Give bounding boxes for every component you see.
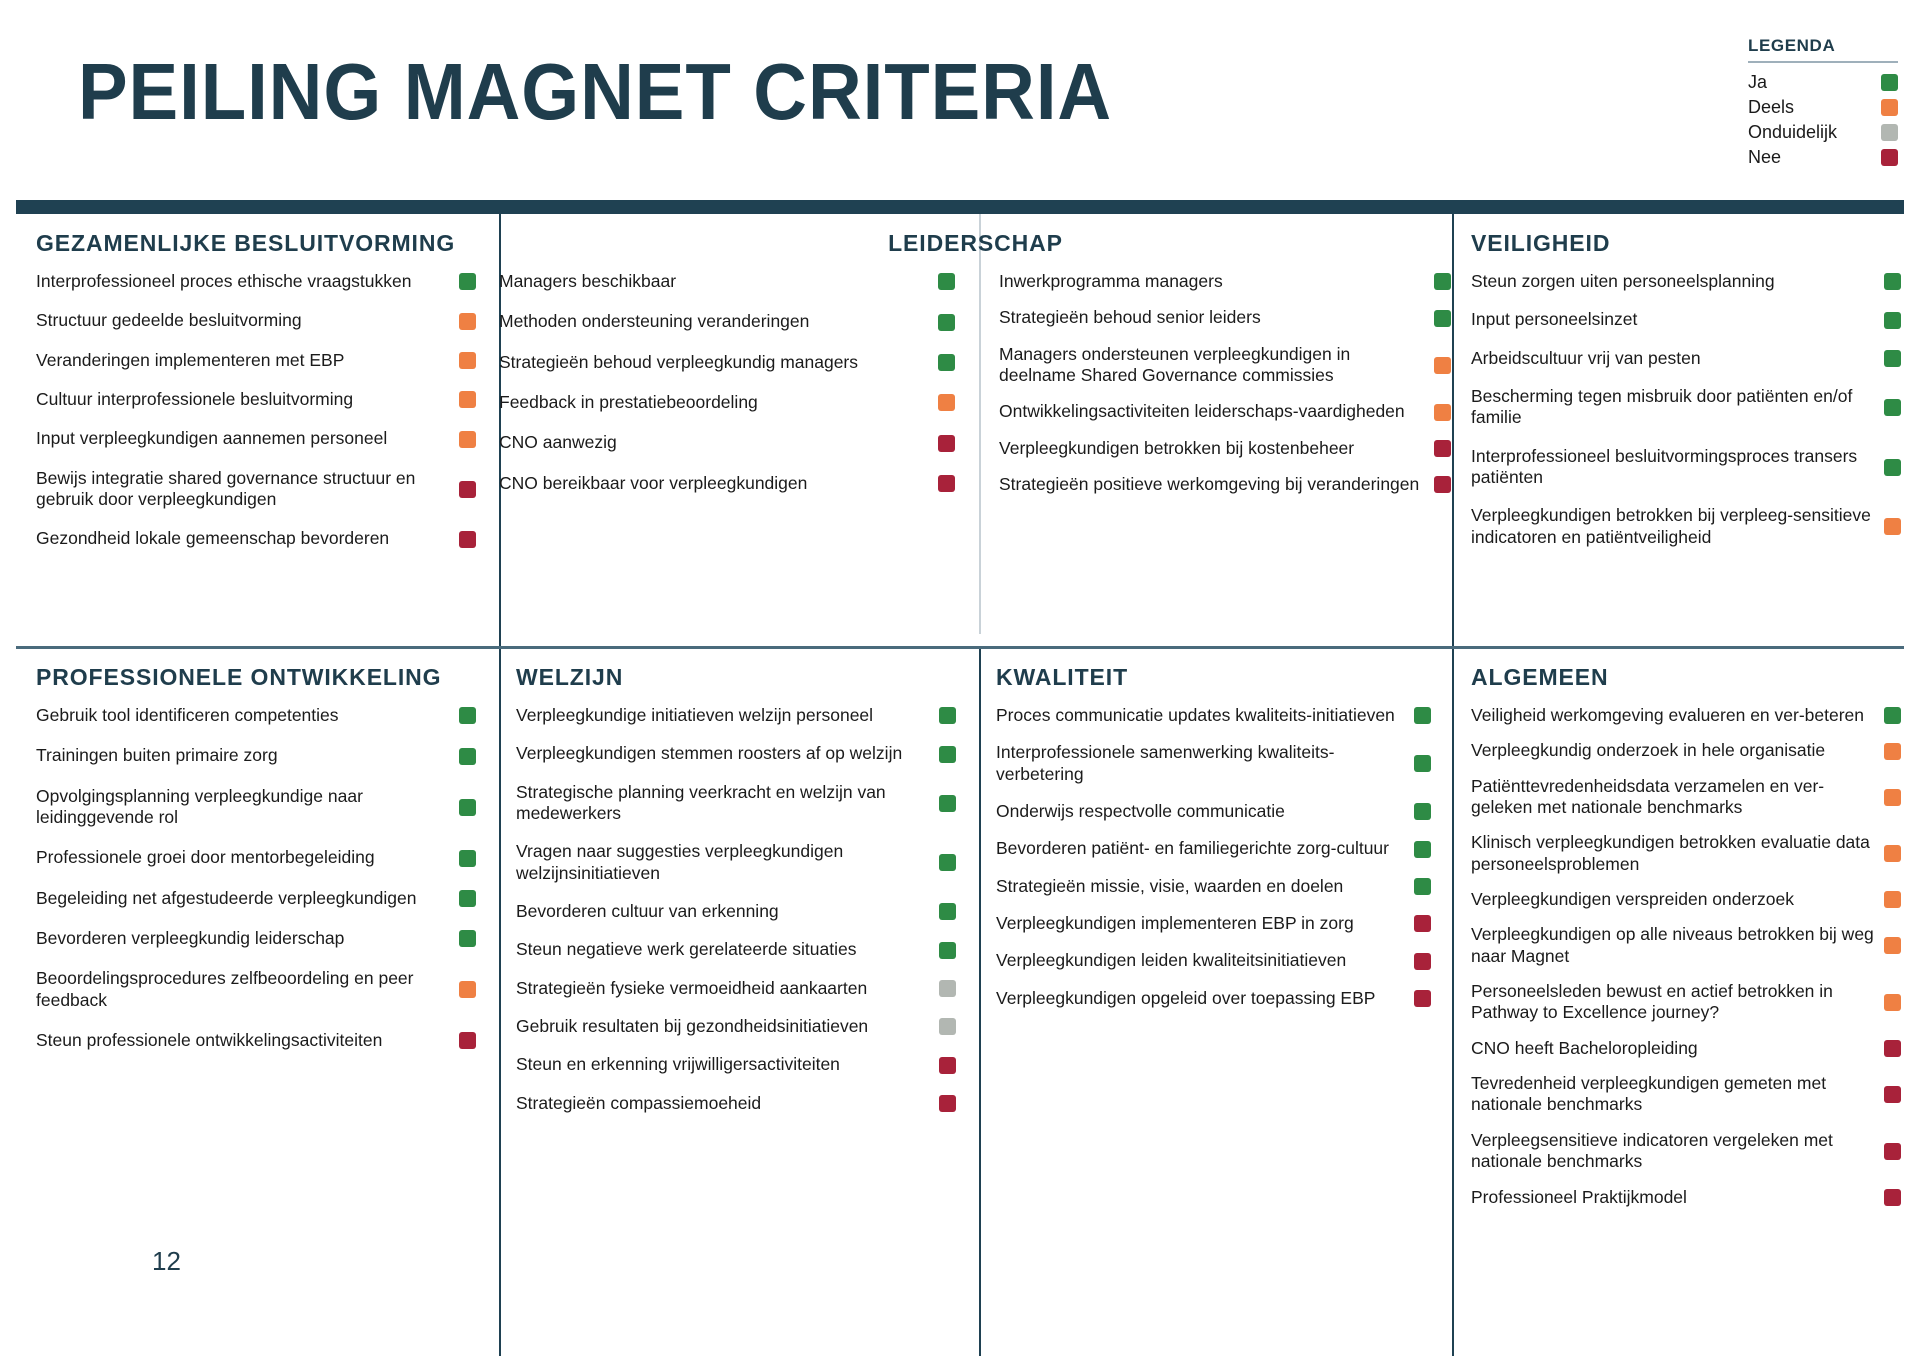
status-swatch-ja bbox=[1414, 878, 1431, 895]
criteria-label: Bevorderen patiënt- en familiegerichte z… bbox=[996, 838, 1389, 859]
panel-title-welzijn: WELZIJN bbox=[516, 664, 956, 691]
criteria-label: Strategieën fysieke vermoeidheid aankaar… bbox=[516, 978, 867, 999]
criteria-label: Interprofessioneel proces ethische vraag… bbox=[36, 271, 412, 292]
status-swatch-ja bbox=[459, 707, 476, 724]
status-swatch-ja bbox=[1884, 312, 1901, 329]
criteria-row: Begeleiding net afgestudeerde verpleegku… bbox=[36, 888, 476, 909]
legend-rows: JaDeelsOnduidelijkNee bbox=[1748, 70, 1898, 170]
status-swatch-ja bbox=[1884, 273, 1901, 290]
status-swatch-nee bbox=[1884, 1143, 1901, 1160]
criteria-row: Beoordelingsprocedures zelfbeoordeling e… bbox=[36, 968, 476, 1011]
criteria-label: Personeelsleden bewust en actief betrokk… bbox=[1471, 981, 1874, 1024]
criteria-label: Strategieën behoud verpleegkundig manage… bbox=[499, 352, 858, 373]
status-swatch-onduidelijk bbox=[939, 1018, 956, 1035]
column-divider-2-bottom bbox=[979, 646, 981, 1356]
criteria-label: Cultuur interprofessionele besluitvormin… bbox=[36, 389, 353, 410]
item-list-veiligheid: Steun zorgen uiten personeelsplanningInp… bbox=[1471, 271, 1901, 548]
criteria-row: Trainingen buiten primaire zorg bbox=[36, 745, 476, 766]
criteria-row: Managers beschikbaar bbox=[499, 271, 955, 292]
criteria-label: Veiligheid werkomgeving evalueren en ver… bbox=[1471, 705, 1864, 726]
criteria-label: Steun zorgen uiten personeelsplanning bbox=[1471, 271, 1775, 292]
panel-leiderschap: LEIDERSCHAP Managers beschikbaarMethoden… bbox=[499, 230, 1452, 495]
criteria-label: Steun professionele ontwikkelingsactivit… bbox=[36, 1030, 382, 1051]
panel-algemeen: ALGEMEEN Veiligheid werkomgeving evaluer… bbox=[1471, 664, 1901, 1208]
criteria-label: Input verpleegkundigen aannemen personee… bbox=[36, 428, 387, 449]
criteria-row: Interprofessioneel proces ethische vraag… bbox=[36, 271, 476, 292]
criteria-label: Strategieën missie, visie, waarden en do… bbox=[996, 876, 1343, 897]
status-swatch-ja bbox=[1434, 273, 1451, 290]
criteria-grid: GEZAMENLIJKE BESLUITVORMING Interprofess… bbox=[16, 214, 1904, 1356]
legend-divider bbox=[1748, 61, 1898, 63]
criteria-label: Verpleegsensitieve indicatoren vergeleke… bbox=[1471, 1130, 1874, 1173]
item-list-leiderschap-right: Inwerkprogramma managersStrategieën beho… bbox=[999, 271, 1451, 495]
panel-title-algemeen: ALGEMEEN bbox=[1471, 664, 1901, 691]
status-swatch-deels bbox=[459, 313, 476, 330]
status-swatch-ja bbox=[459, 850, 476, 867]
criteria-row: Personeelsleden bewust en actief betrokk… bbox=[1471, 981, 1901, 1024]
legend-item: Onduidelijk bbox=[1748, 120, 1898, 145]
status-swatch-ja bbox=[939, 707, 956, 724]
column-divider-3 bbox=[1452, 214, 1454, 1356]
criteria-row: Steun zorgen uiten personeelsplanning bbox=[1471, 271, 1901, 292]
criteria-row: Verpleegkundigen stemmen roosters af op … bbox=[516, 743, 956, 764]
criteria-row: Steun negatieve werk gerelateerde situat… bbox=[516, 939, 956, 960]
status-swatch-nee bbox=[459, 481, 476, 498]
status-swatch-deels bbox=[1434, 357, 1451, 374]
criteria-label: Verpleegkundigen verspreiden onderzoek bbox=[1471, 889, 1794, 910]
criteria-label: Trainingen buiten primaire zorg bbox=[36, 745, 278, 766]
criteria-row: Inwerkprogramma managers bbox=[999, 271, 1451, 292]
status-swatch-ja bbox=[1884, 399, 1901, 416]
status-swatch-ja bbox=[459, 799, 476, 816]
status-swatch-deels bbox=[459, 391, 476, 408]
criteria-row: Klinisch verpleegkundigen betrokken eval… bbox=[1471, 832, 1901, 875]
status-swatch-ja bbox=[1414, 841, 1431, 858]
criteria-row: Tevredenheid verpleegkundigen gemeten me… bbox=[1471, 1073, 1901, 1116]
criteria-row: Verpleegkundigen verspreiden onderzoek bbox=[1471, 889, 1901, 910]
legend-title: LEGENDA bbox=[1748, 36, 1898, 61]
status-swatch-ja bbox=[1414, 755, 1431, 772]
criteria-label: Verpleegkundig onderzoek in hele organis… bbox=[1471, 740, 1825, 761]
panel-title-professionele: PROFESSIONELE ONTWIKKELING bbox=[36, 664, 476, 691]
criteria-label: Interprofessioneel besluitvormingsproces… bbox=[1471, 446, 1874, 489]
criteria-row: Steun en erkenning vrijwilligersactivite… bbox=[516, 1054, 956, 1075]
criteria-label: Strategieën behoud senior leiders bbox=[999, 307, 1261, 328]
criteria-label: Verpleegkundigen implementeren EBP in zo… bbox=[996, 913, 1354, 934]
status-swatch-ja bbox=[938, 314, 955, 331]
criteria-label: Strategieën compassiemoeheid bbox=[516, 1093, 761, 1114]
status-swatch-deels bbox=[459, 431, 476, 448]
criteria-label: Feedback in prestatiebeoordeling bbox=[499, 392, 758, 413]
status-swatch-deels bbox=[1884, 845, 1901, 862]
status-swatch-ja bbox=[459, 748, 476, 765]
criteria-label: Tevredenheid verpleegkundigen gemeten me… bbox=[1471, 1073, 1874, 1116]
page-number: 12 bbox=[152, 1246, 181, 1277]
status-swatch-ja bbox=[939, 854, 956, 871]
criteria-row: Opvolgingsplanning verpleegkundige naar … bbox=[36, 786, 476, 829]
legend-color-swatch bbox=[1881, 149, 1898, 166]
criteria-row: Verpleegsensitieve indicatoren vergeleke… bbox=[1471, 1130, 1901, 1173]
criteria-label: Patiënttevredenheidsdata verzamelen en v… bbox=[1471, 776, 1874, 819]
criteria-row: Verpleegkundigen leiden kwaliteitsinitia… bbox=[996, 950, 1431, 971]
status-swatch-nee bbox=[939, 1095, 956, 1112]
criteria-row: Verpleegkundigen opgeleid over toepassin… bbox=[996, 988, 1431, 1009]
status-swatch-ja bbox=[459, 890, 476, 907]
legend-item: Nee bbox=[1748, 145, 1898, 170]
criteria-label: Professioneel Praktijkmodel bbox=[1471, 1187, 1687, 1208]
status-swatch-nee bbox=[459, 1032, 476, 1049]
status-swatch-nee bbox=[1414, 953, 1431, 970]
criteria-row: Managers ondersteunen verpleegkundigen i… bbox=[999, 344, 1451, 387]
criteria-row: Professioneel Praktijkmodel bbox=[1471, 1187, 1901, 1208]
criteria-row: Strategieën behoud senior leiders bbox=[999, 307, 1451, 328]
criteria-row: Verpleegkundigen implementeren EBP in zo… bbox=[996, 913, 1431, 934]
status-swatch-ja bbox=[939, 942, 956, 959]
criteria-row: Gebruik resultaten bij gezondheidsinitia… bbox=[516, 1016, 956, 1037]
legend-item-label: Ja bbox=[1748, 72, 1767, 93]
criteria-row: Strategieën behoud verpleegkundig manage… bbox=[499, 352, 955, 373]
criteria-row: Ontwikkelingsactiviteiten leiderschaps-v… bbox=[999, 401, 1451, 422]
status-swatch-ja bbox=[1884, 707, 1901, 724]
criteria-row: Strategieën positieve werkomgeving bij v… bbox=[999, 474, 1451, 495]
criteria-row: Vragen naar suggesties verpleegkundigen … bbox=[516, 841, 956, 884]
criteria-row: Bevorderen verpleegkundig leiderschap bbox=[36, 928, 476, 949]
criteria-row: Bevorderen cultuur van erkenning bbox=[516, 901, 956, 922]
criteria-label: Verpleegkundigen stemmen roosters af op … bbox=[516, 743, 902, 764]
legend-item: Deels bbox=[1748, 95, 1898, 120]
page-title: PEILING MAGNET CRITERIA bbox=[78, 52, 1112, 132]
status-swatch-deels bbox=[1884, 994, 1901, 1011]
page-header: PEILING MAGNET CRITERIA bbox=[0, 0, 1920, 200]
status-swatch-ja bbox=[939, 746, 956, 763]
criteria-label: Steun en erkenning vrijwilligersactivite… bbox=[516, 1054, 840, 1075]
criteria-label: Bevorderen verpleegkundig leiderschap bbox=[36, 928, 344, 949]
criteria-label: CNO aanwezig bbox=[499, 432, 617, 453]
status-swatch-nee bbox=[1414, 990, 1431, 1007]
legend-color-swatch bbox=[1881, 124, 1898, 141]
status-swatch-ja bbox=[1414, 707, 1431, 724]
status-swatch-nee bbox=[1884, 1040, 1901, 1057]
panel-title-gezamenlijke: GEZAMENLIJKE BESLUITVORMING bbox=[36, 230, 476, 257]
header-rule-bar bbox=[16, 200, 1904, 214]
criteria-row: CNO aanwezig bbox=[499, 432, 955, 453]
criteria-row: Patiënttevredenheidsdata verzamelen en v… bbox=[1471, 776, 1901, 819]
criteria-label: Bewijs integratie shared governance stru… bbox=[36, 468, 449, 511]
criteria-label: Managers beschikbaar bbox=[499, 271, 676, 292]
legend-item-label: Deels bbox=[1748, 97, 1794, 118]
criteria-row: Steun professionele ontwikkelingsactivit… bbox=[36, 1030, 476, 1051]
criteria-label: Proces communicatie updates kwaliteits-i… bbox=[996, 705, 1395, 726]
legend: LEGENDA JaDeelsOnduidelijkNee bbox=[1748, 36, 1898, 170]
criteria-row: Strategieën compassiemoeheid bbox=[516, 1093, 956, 1114]
criteria-label: Vragen naar suggesties verpleegkundigen … bbox=[516, 841, 929, 884]
criteria-label: Steun negatieve werk gerelateerde situat… bbox=[516, 939, 857, 960]
status-swatch-nee bbox=[1434, 440, 1451, 457]
criteria-label: Bevorderen cultuur van erkenning bbox=[516, 901, 779, 922]
criteria-label: Strategische planning veerkracht en welz… bbox=[516, 782, 929, 825]
criteria-row: Interprofessionele samenwerking kwalitei… bbox=[996, 742, 1431, 785]
criteria-label: Strategieën positieve werkomgeving bij v… bbox=[999, 474, 1419, 495]
criteria-label: Inwerkprogramma managers bbox=[999, 271, 1223, 292]
row-divider bbox=[16, 646, 1904, 649]
status-swatch-deels bbox=[1884, 743, 1901, 760]
panel-gezamenlijke-besluitvorming: GEZAMENLIJKE BESLUITVORMING Interprofess… bbox=[36, 230, 476, 550]
panel-title-leiderschap: LEIDERSCHAP bbox=[499, 230, 1452, 257]
criteria-label: Verpleegkundigen betrokken bij kostenbeh… bbox=[999, 438, 1354, 459]
criteria-label: Onderwijs respectvolle communicatie bbox=[996, 801, 1285, 822]
status-swatch-ja bbox=[1414, 803, 1431, 820]
status-swatch-ja bbox=[939, 903, 956, 920]
status-swatch-deels bbox=[459, 352, 476, 369]
criteria-row: Strategische planning veerkracht en welz… bbox=[516, 782, 956, 825]
status-swatch-ja bbox=[1884, 350, 1901, 367]
criteria-label: Gebruik resultaten bij gezondheidsinitia… bbox=[516, 1016, 868, 1037]
criteria-label: Begeleiding net afgestudeerde verpleegku… bbox=[36, 888, 416, 909]
status-swatch-nee bbox=[1434, 476, 1451, 493]
criteria-row: CNO heeft Bacheloropleiding bbox=[1471, 1038, 1901, 1059]
item-list-kwaliteit: Proces communicatie updates kwaliteits-i… bbox=[996, 705, 1431, 1009]
status-swatch-nee bbox=[938, 475, 955, 492]
criteria-label: Ontwikkelingsactiviteiten leiderschaps-v… bbox=[999, 401, 1405, 422]
criteria-row: Methoden ondersteuning veranderingen bbox=[499, 311, 955, 332]
legend-item: Ja bbox=[1748, 70, 1898, 95]
criteria-label: Verpleegkundigen betrokken bij verpleeg-… bbox=[1471, 505, 1874, 548]
criteria-row: Veranderingen implementeren met EBP bbox=[36, 350, 476, 371]
criteria-row: Strategieën fysieke vermoeidheid aankaar… bbox=[516, 978, 956, 999]
item-list-professionele: Gebruik tool identificeren competentiesT… bbox=[36, 705, 476, 1051]
status-swatch-deels bbox=[1884, 937, 1901, 954]
criteria-label: Veranderingen implementeren met EBP bbox=[36, 350, 344, 371]
status-swatch-nee bbox=[459, 531, 476, 548]
legend-color-swatch bbox=[1881, 74, 1898, 91]
criteria-row: Verpleegkundigen betrokken bij kostenbeh… bbox=[999, 438, 1451, 459]
criteria-label: Professionele groei door mentorbegeleidi… bbox=[36, 847, 375, 868]
criteria-label: Gebruik tool identificeren competenties bbox=[36, 705, 339, 726]
criteria-row: Cultuur interprofessionele besluitvormin… bbox=[36, 389, 476, 410]
criteria-row: Verpleegkundigen op alle niveaus betrokk… bbox=[1471, 924, 1901, 967]
panel-veiligheid: VEILIGHEID Steun zorgen uiten personeels… bbox=[1471, 230, 1901, 548]
criteria-row: Bevorderen patiënt- en familiegerichte z… bbox=[996, 838, 1431, 859]
criteria-label: Opvolgingsplanning verpleegkundige naar … bbox=[36, 786, 449, 829]
criteria-label: Input personeelsinzet bbox=[1471, 309, 1637, 330]
criteria-row: Input personeelsinzet bbox=[1471, 309, 1901, 330]
criteria-row: Bescherming tegen misbruik door patiënte… bbox=[1471, 386, 1901, 429]
criteria-row: Interprofessioneel besluitvormingsproces… bbox=[1471, 446, 1901, 489]
panel-title-kwaliteit: KWALITEIT bbox=[996, 664, 1431, 691]
status-swatch-onduidelijk bbox=[939, 980, 956, 997]
criteria-row: Input verpleegkundigen aannemen personee… bbox=[36, 428, 476, 449]
status-swatch-nee bbox=[938, 435, 955, 452]
criteria-row: Structuur gedeelde besluitvorming bbox=[36, 310, 476, 331]
panel-title-veiligheid: VEILIGHEID bbox=[1471, 230, 1901, 257]
status-swatch-deels bbox=[1884, 789, 1901, 806]
panel-kwaliteit: KWALITEIT Proces communicatie updates kw… bbox=[996, 664, 1431, 1009]
status-swatch-ja bbox=[459, 273, 476, 290]
panel-welzijn: WELZIJN Verpleegkundige initiatieven wel… bbox=[516, 664, 956, 1114]
item-list-leiderschap-left: Managers beschikbaarMethoden ondersteuni… bbox=[499, 271, 955, 494]
criteria-label: Bescherming tegen misbruik door patiënte… bbox=[1471, 386, 1874, 429]
criteria-label: Klinisch verpleegkundigen betrokken eval… bbox=[1471, 832, 1874, 875]
criteria-row: Veiligheid werkomgeving evalueren en ver… bbox=[1471, 705, 1901, 726]
criteria-row: Bewijs integratie shared governance stru… bbox=[36, 468, 476, 511]
criteria-label: Beoordelingsprocedures zelfbeoordeling e… bbox=[36, 968, 449, 1011]
criteria-label: CNO heeft Bacheloropleiding bbox=[1471, 1038, 1698, 1059]
criteria-label: Structuur gedeelde besluitvorming bbox=[36, 310, 302, 331]
status-swatch-deels bbox=[1884, 518, 1901, 535]
criteria-row: Gezondheid lokale gemeenschap bevorderen bbox=[36, 528, 476, 549]
status-swatch-nee bbox=[1884, 1189, 1901, 1206]
criteria-row: Verpleegkundigen betrokken bij verpleeg-… bbox=[1471, 505, 1901, 548]
status-swatch-nee bbox=[1884, 1086, 1901, 1103]
status-swatch-ja bbox=[459, 930, 476, 947]
criteria-row: CNO bereikbaar voor verpleegkundigen bbox=[499, 473, 955, 494]
criteria-label: Methoden ondersteuning veranderingen bbox=[499, 311, 809, 332]
legend-color-swatch bbox=[1881, 99, 1898, 116]
status-swatch-ja bbox=[938, 354, 955, 371]
status-swatch-deels bbox=[938, 394, 955, 411]
criteria-row: Feedback in prestatiebeoordeling bbox=[499, 392, 955, 413]
criteria-row: Verpleegkundig onderzoek in hele organis… bbox=[1471, 740, 1901, 761]
criteria-label: Verpleegkundigen opgeleid over toepassin… bbox=[996, 988, 1375, 1009]
legend-item-label: Onduidelijk bbox=[1748, 122, 1837, 143]
criteria-label: Verpleegkundige initiatieven welzijn per… bbox=[516, 705, 873, 726]
criteria-row: Gebruik tool identificeren competenties bbox=[36, 705, 476, 726]
item-list-gezamenlijke: Interprofessioneel proces ethische vraag… bbox=[36, 271, 476, 550]
item-list-algemeen: Veiligheid werkomgeving evalueren en ver… bbox=[1471, 705, 1901, 1208]
criteria-label: Verpleegkundigen leiden kwaliteitsinitia… bbox=[996, 950, 1346, 971]
criteria-row: Strategieën missie, visie, waarden en do… bbox=[996, 876, 1431, 897]
status-swatch-ja bbox=[1884, 459, 1901, 476]
status-swatch-deels bbox=[1884, 891, 1901, 908]
status-swatch-nee bbox=[1414, 915, 1431, 932]
panel-professionele-ontwikkeling: PROFESSIONELE ONTWIKKELING Gebruik tool … bbox=[36, 664, 476, 1051]
criteria-row: Onderwijs respectvolle communicatie bbox=[996, 801, 1431, 822]
criteria-row: Verpleegkundige initiatieven welzijn per… bbox=[516, 705, 956, 726]
status-swatch-ja bbox=[1434, 310, 1451, 327]
status-swatch-deels bbox=[459, 981, 476, 998]
criteria-label: Gezondheid lokale gemeenschap bevorderen bbox=[36, 528, 389, 549]
criteria-label: Managers ondersteunen verpleegkundigen i… bbox=[999, 344, 1424, 387]
criteria-label: Interprofessionele samenwerking kwalitei… bbox=[996, 742, 1404, 785]
status-swatch-ja bbox=[939, 795, 956, 812]
status-swatch-nee bbox=[939, 1057, 956, 1074]
criteria-row: Proces communicatie updates kwaliteits-i… bbox=[996, 705, 1431, 726]
criteria-label: Verpleegkundigen op alle niveaus betrokk… bbox=[1471, 924, 1874, 967]
item-list-welzijn: Verpleegkundige initiatieven welzijn per… bbox=[516, 705, 956, 1114]
status-swatch-ja bbox=[938, 273, 955, 290]
criteria-row: Professionele groei door mentorbegeleidi… bbox=[36, 847, 476, 868]
criteria-label: CNO bereikbaar voor verpleegkundigen bbox=[499, 473, 807, 494]
criteria-row: Arbeidscultuur vrij van pesten bbox=[1471, 348, 1901, 369]
criteria-label: Arbeidscultuur vrij van pesten bbox=[1471, 348, 1701, 369]
status-swatch-deels bbox=[1434, 404, 1451, 421]
legend-item-label: Nee bbox=[1748, 147, 1781, 168]
